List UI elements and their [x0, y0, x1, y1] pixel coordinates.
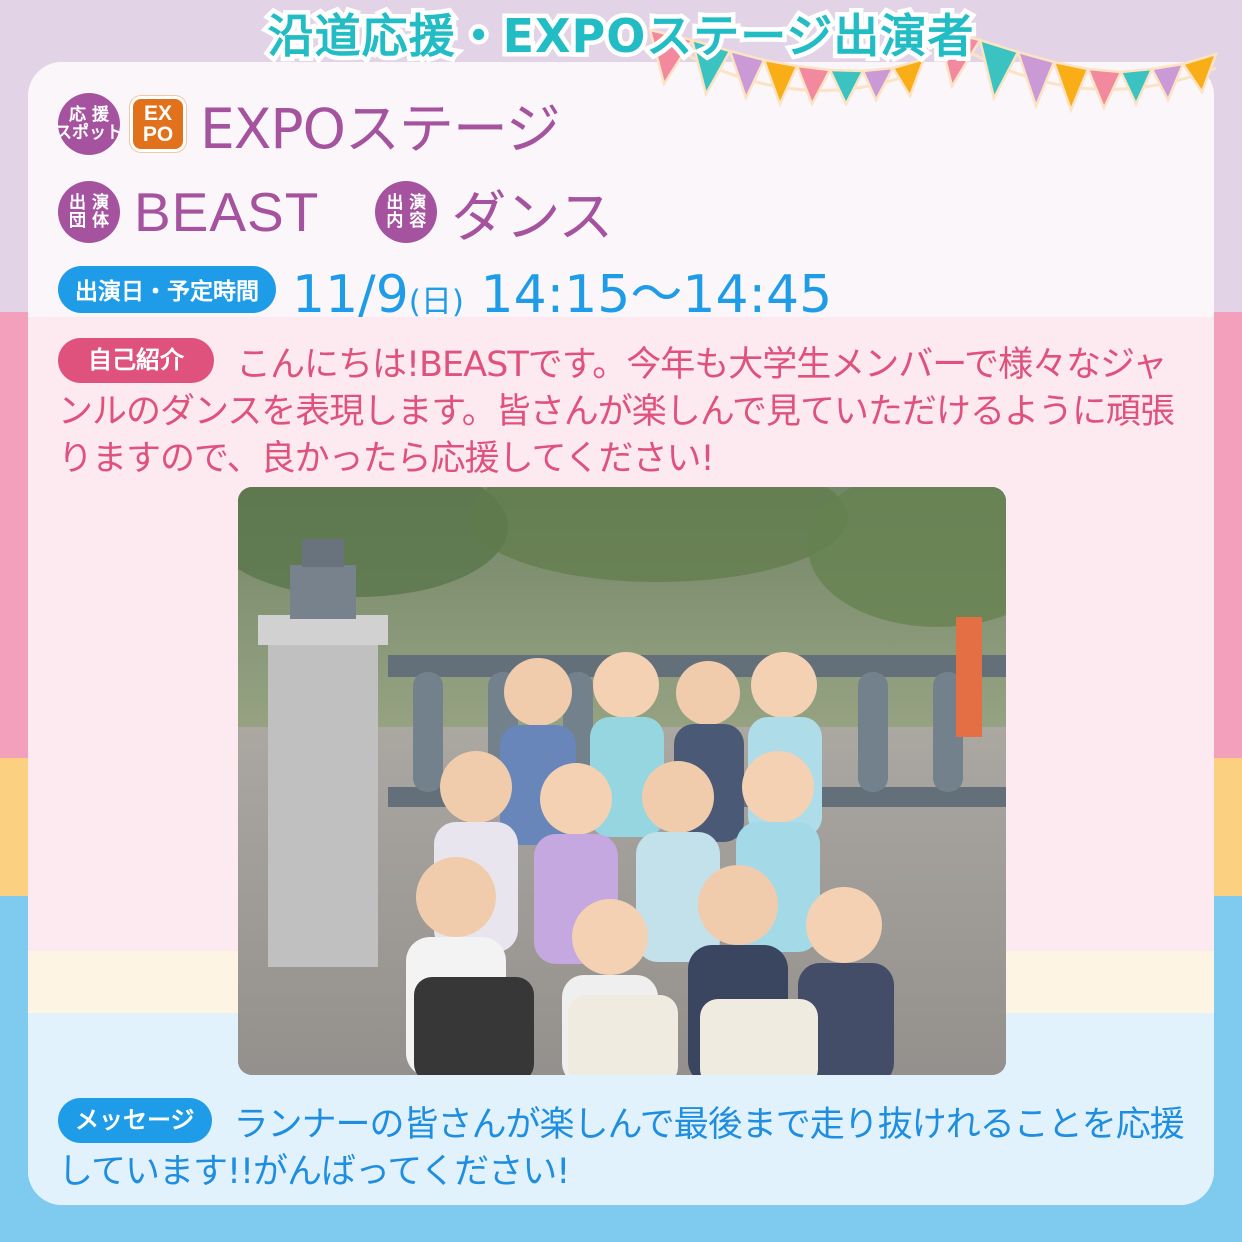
badge-performance-content-line1: 出 演: [386, 194, 426, 212]
badge-message: メッセージ: [58, 1098, 212, 1143]
badge-performer-group-line2: 団 体: [69, 212, 109, 230]
expo-logo-line1: EX: [144, 103, 172, 124]
page-title-container: 沿道応援・EXPOステージ出演者: [0, 0, 1242, 66]
badge-support-spot: 応 援 スポット: [58, 93, 120, 155]
badge-performance-content-line2: 内 容: [386, 212, 426, 230]
schedule-date: 11/9: [292, 265, 409, 325]
performer-group-value: BEAST: [134, 180, 319, 244]
badge-support-spot-line1: 応 援: [69, 106, 109, 124]
row-schedule: 出演日・予定時間 11/9(日) 14:15〜14:45: [58, 252, 832, 327]
badge-support-spot-line2: スポット: [55, 124, 123, 142]
message-text: ランナーの皆さんが楽しんで最後まで走り抜けれることを応援しています!!がんばって…: [58, 1105, 1184, 1192]
schedule-time: 14:15〜14:45: [481, 265, 833, 325]
performer-photo-image: [238, 487, 1006, 1075]
support-spot-value: EXPOステージ: [200, 84, 560, 164]
badge-performance-content: 出 演 内 容: [375, 181, 437, 243]
badge-performer-group-line1: 出 演: [69, 194, 109, 212]
self-introduction-text: こんにちは!BEASTです。今年も大学生メンバーで様々なジャンルのダンスを表現し…: [58, 345, 1174, 479]
badge-schedule: 出演日・予定時間: [58, 266, 276, 313]
schedule-value: 11/9(日) 14:15〜14:45: [292, 252, 832, 327]
expo-logo-line2: PO: [143, 124, 173, 145]
self-introduction-block: 自己紹介こんにちは!BEASTです。今年も大学生メンバーで様々なジャンルのダンス…: [58, 338, 1188, 483]
expo-logo-icon: EX PO: [130, 96, 186, 152]
page-title: 沿道応援・EXPOステージ出演者: [268, 0, 975, 66]
performance-content-value: ダンス: [451, 172, 612, 252]
badge-self-introduction: 自己紹介: [58, 338, 214, 383]
schedule-weekday: (日): [409, 284, 464, 320]
badge-performer-group: 出 演 団 体: [58, 181, 120, 243]
row-support-spot: 応 援 スポット EX PO EXPOステージ: [58, 84, 560, 164]
performer-photo: [238, 487, 1006, 1075]
message-block: メッセージランナーの皆さんが楽しんで最後まで走り抜けれることを応援しています!!…: [58, 1098, 1188, 1196]
row-performer: 出 演 団 体 BEAST 出 演 内 容 ダンス: [58, 172, 612, 252]
